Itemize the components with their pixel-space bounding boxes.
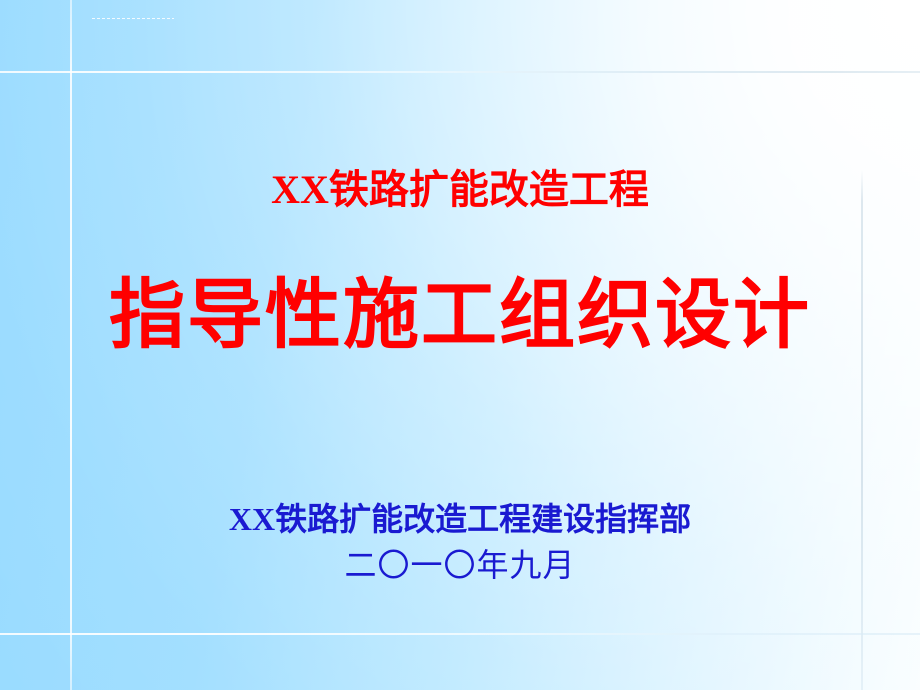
organization-name: XX铁路扩能改造工程建设指挥部 [0, 500, 920, 539]
page-title: 指导性施工组织设计 [0, 272, 920, 362]
presentation-slide: XX铁路扩能改造工程 指导性施工组织设计 XX铁路扩能改造工程建设指挥部 二〇一… [0, 0, 920, 690]
project-subtitle: XX铁路扩能改造工程 [0, 168, 920, 213]
bottom-frame-line [0, 633, 920, 635]
top-frame-line [0, 71, 920, 73]
top-dashed-accent [92, 18, 174, 19]
date-label: 二〇一〇年九月 [0, 546, 920, 585]
right-frame-line [861, 170, 863, 690]
